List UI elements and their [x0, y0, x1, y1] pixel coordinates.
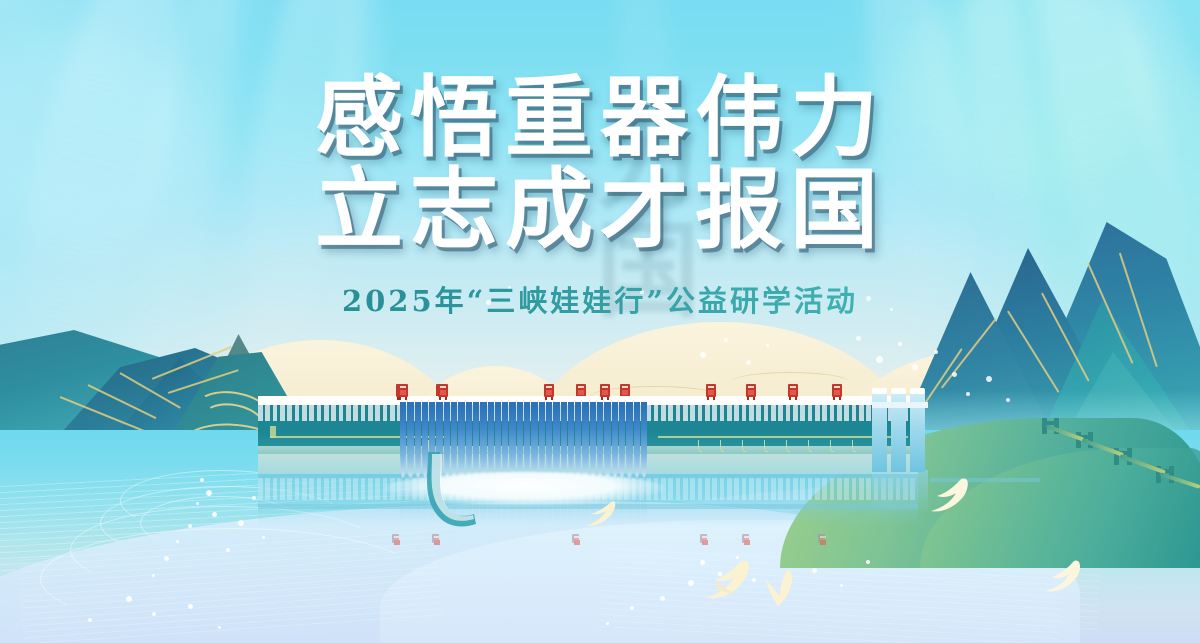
gantry-crane [832, 384, 842, 397]
swallow-bird [926, 478, 970, 514]
crane-reflection [572, 534, 579, 543]
swallow-bird [580, 500, 618, 530]
water-bubble [218, 626, 221, 629]
sparkle-dot [876, 356, 883, 363]
dam-accent-line [270, 426, 276, 438]
gantry-crane [788, 384, 798, 397]
sparkle-dot [724, 338, 728, 342]
sparkle-dot [912, 364, 918, 370]
swallow-bird [700, 560, 752, 602]
gantry-crane [544, 384, 554, 397]
swallow-bird [760, 570, 796, 610]
water-bubble [206, 490, 212, 496]
crane-reflection [742, 534, 749, 543]
sparkle-dot [898, 342, 902, 346]
poster-banner: 力 国 [0, 0, 1200, 643]
water-bubble [736, 556, 739, 559]
water-bubble [196, 502, 199, 505]
water-bubble [152, 574, 155, 577]
gantry-crane [706, 384, 716, 397]
sparkle-dot [700, 352, 706, 358]
water-bubble [88, 618, 92, 622]
gantry-crane [398, 384, 408, 397]
water-bubble [752, 578, 756, 582]
water-bubble [152, 612, 156, 616]
gantry-crane [746, 384, 756, 397]
sparkle-dot [766, 344, 769, 347]
swallow-bird [1042, 560, 1082, 594]
sparkle-dot [1006, 398, 1010, 402]
sparkle-dot [952, 372, 957, 377]
water-bubble [840, 584, 843, 587]
water-bubble [252, 496, 256, 500]
poster-title-block: 感悟重器伟力 立志成才报国 2025年“三峡娃娃行”公益研学活动 [0, 72, 1200, 320]
sparkle-dot [934, 350, 938, 354]
water-bubble [688, 580, 694, 586]
ship-lift-towers [872, 392, 928, 484]
gantry-crane [600, 384, 610, 397]
crane-reflection [432, 534, 439, 543]
sparkle-dot [966, 392, 970, 396]
water-bubble [226, 548, 230, 552]
sparkle-dot [856, 336, 861, 341]
water-bubble [606, 622, 609, 625]
poster-title-line-2: 立志成才报国 [0, 164, 1200, 256]
sparkle-dot [986, 376, 992, 382]
water-bubble [126, 596, 132, 602]
poster-subtitle: 2025年“三峡娃娃行”公益研学活动 [0, 278, 1200, 320]
water-bubble [630, 606, 634, 610]
dam-accent-line [658, 436, 908, 438]
water-bubble [660, 596, 665, 601]
water-bubble [212, 512, 217, 517]
crane-reflection [700, 534, 707, 543]
water-bubble [812, 568, 817, 573]
crane-reflection [818, 534, 825, 543]
water-bubble [188, 604, 193, 609]
sparkle-dot [746, 360, 751, 365]
crane-reflection [392, 534, 399, 543]
water-bubble [866, 560, 870, 564]
water-bubble [188, 524, 192, 528]
water-bubble [164, 556, 169, 561]
water-bubble [176, 540, 179, 543]
gantry-crane [438, 384, 448, 397]
water-bubble [238, 520, 244, 526]
dam-diversion-chute [420, 452, 480, 530]
water-bubble [200, 478, 204, 482]
water-bubble [262, 536, 265, 539]
poster-title-line-1: 感悟重器伟力 [0, 72, 1200, 164]
